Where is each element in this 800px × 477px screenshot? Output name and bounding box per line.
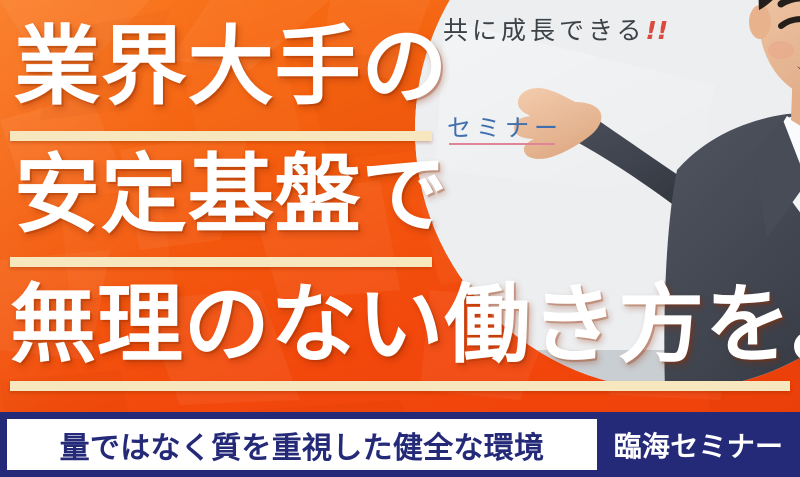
headline-rule-3: [10, 381, 790, 391]
whiteboard-line-1: 共に成長できる!!: [443, 11, 668, 47]
headline-line-1: 業界大手の: [14, 24, 448, 110]
whiteboard-line-2: セミナー: [447, 108, 563, 143]
headline-line-2: 安定基盤で: [14, 152, 448, 238]
headline-line-3: 無理のない働き方を。: [10, 282, 800, 368]
footer-tagline: 量ではなく質を重視した健全な環境: [60, 423, 545, 467]
whiteboard-line-1-text: 共に成長できる: [443, 16, 646, 45]
brand-name: 臨海セミナー: [597, 425, 800, 465]
headline-rule-1: [10, 131, 432, 141]
whiteboard-exclamation: !!: [646, 16, 669, 45]
footer-tagline-box: 量ではなく質を重視した健全な環境: [7, 419, 597, 470]
whiteboard-underline: [449, 143, 555, 145]
headline-rule-2: [10, 257, 432, 267]
footer-bar: 量ではなく質を重視した健全な環境 臨海セミナー: [0, 412, 800, 477]
recruitment-banner: 共に成長できる!! セミナー 業界大手の 安定基盤で 無理のない働き方を。 量で…: [0, 0, 800, 477]
